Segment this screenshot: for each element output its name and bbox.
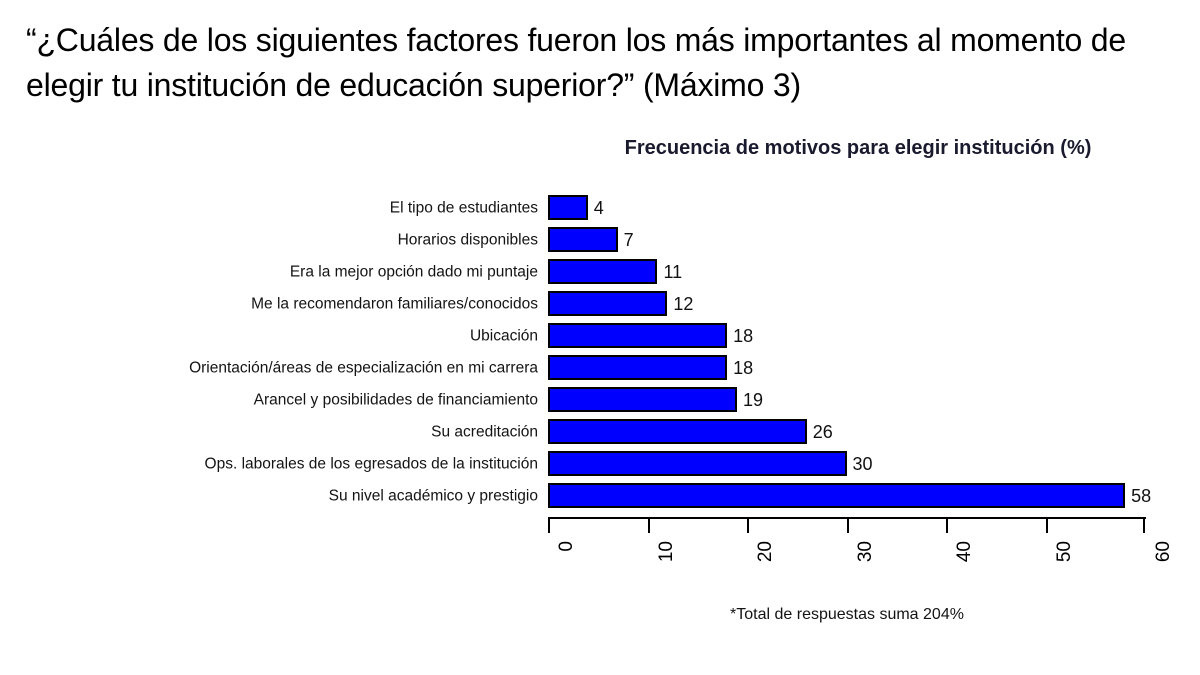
- x-axis-tick: [747, 517, 749, 533]
- x-axis-tick: [1046, 517, 1048, 533]
- category-label: Era la mejor opción dado mi puntaje: [290, 263, 538, 280]
- page-title: “¿Cuáles de los siguientes factores fuer…: [26, 18, 1176, 108]
- category-label: Ops. laborales de los egresados de la in…: [205, 455, 538, 472]
- bar-row: Ubicación18: [0, 323, 1200, 348]
- x-axis-tick-label: 40: [955, 541, 975, 562]
- x-axis-tick-label: 10: [657, 541, 677, 562]
- x-axis-tick-label: 0: [557, 541, 577, 552]
- bar-chart: Frecuencia de motivos para elegir instit…: [0, 120, 1200, 675]
- category-label: Su acreditación: [431, 423, 538, 440]
- x-axis-tick: [946, 517, 948, 533]
- bar-value-label: 26: [813, 422, 833, 442]
- x-axis-tick: [1143, 517, 1145, 533]
- category-label: Orientación/áreas de especialización en …: [189, 359, 538, 376]
- bar: [548, 259, 657, 284]
- x-axis-tick: [648, 517, 650, 533]
- category-label: Me la recomendaron familiares/conocidos: [251, 295, 538, 312]
- plot-region: El tipo de estudiantes4Horarios disponib…: [0, 120, 1200, 675]
- bar-row: Su nivel académico y prestigio58: [0, 483, 1200, 508]
- category-label: Horarios disponibles: [398, 231, 538, 248]
- bar: [548, 483, 1125, 508]
- bar-row: Era la mejor opción dado mi puntaje11: [0, 259, 1200, 284]
- x-axis-tick: [548, 517, 550, 533]
- x-axis-tick-label: 30: [856, 541, 876, 562]
- bar: [548, 419, 807, 444]
- bar-row: Arancel y posibilidades de financiamient…: [0, 387, 1200, 412]
- bar: [548, 227, 618, 252]
- bar-value-label: 18: [733, 358, 753, 378]
- chart-footnote: *Total de respuestas suma 204%: [548, 606, 1146, 624]
- bar-row: Me la recomendaron familiares/conocidos1…: [0, 291, 1200, 316]
- bar-value-label: 12: [673, 294, 693, 314]
- x-axis-tick: [847, 517, 849, 533]
- bar-row: Horarios disponibles7: [0, 227, 1200, 252]
- bar: [548, 355, 727, 380]
- x-axis-tick-label: 20: [756, 541, 776, 562]
- bar: [548, 291, 667, 316]
- bar: [548, 195, 588, 220]
- bar-value-label: 4: [594, 198, 604, 218]
- bar-row: El tipo de estudiantes4: [0, 195, 1200, 220]
- bar: [548, 323, 727, 348]
- bar-row: Orientación/áreas de especialización en …: [0, 355, 1200, 380]
- bar-value-label: 30: [853, 454, 873, 474]
- bar-value-label: 58: [1131, 486, 1151, 506]
- x-axis-tick-label: 50: [1055, 541, 1075, 562]
- bar-row: Ops. laborales de los egresados de la in…: [0, 451, 1200, 476]
- bar: [548, 387, 737, 412]
- bar-value-label: 11: [663, 262, 682, 282]
- bar-value-label: 18: [733, 326, 753, 346]
- category-label: Arancel y posibilidades de financiamient…: [254, 391, 538, 408]
- category-label: El tipo de estudiantes: [390, 199, 538, 216]
- bar-value-label: 19: [743, 390, 763, 410]
- category-label: Ubicación: [470, 327, 538, 344]
- category-label: Su nivel académico y prestigio: [329, 487, 538, 504]
- x-axis-tick-label: 60: [1154, 541, 1174, 562]
- bar-row: Su acreditación26: [0, 419, 1200, 444]
- bar-value-label: 7: [624, 230, 634, 250]
- bar: [548, 451, 847, 476]
